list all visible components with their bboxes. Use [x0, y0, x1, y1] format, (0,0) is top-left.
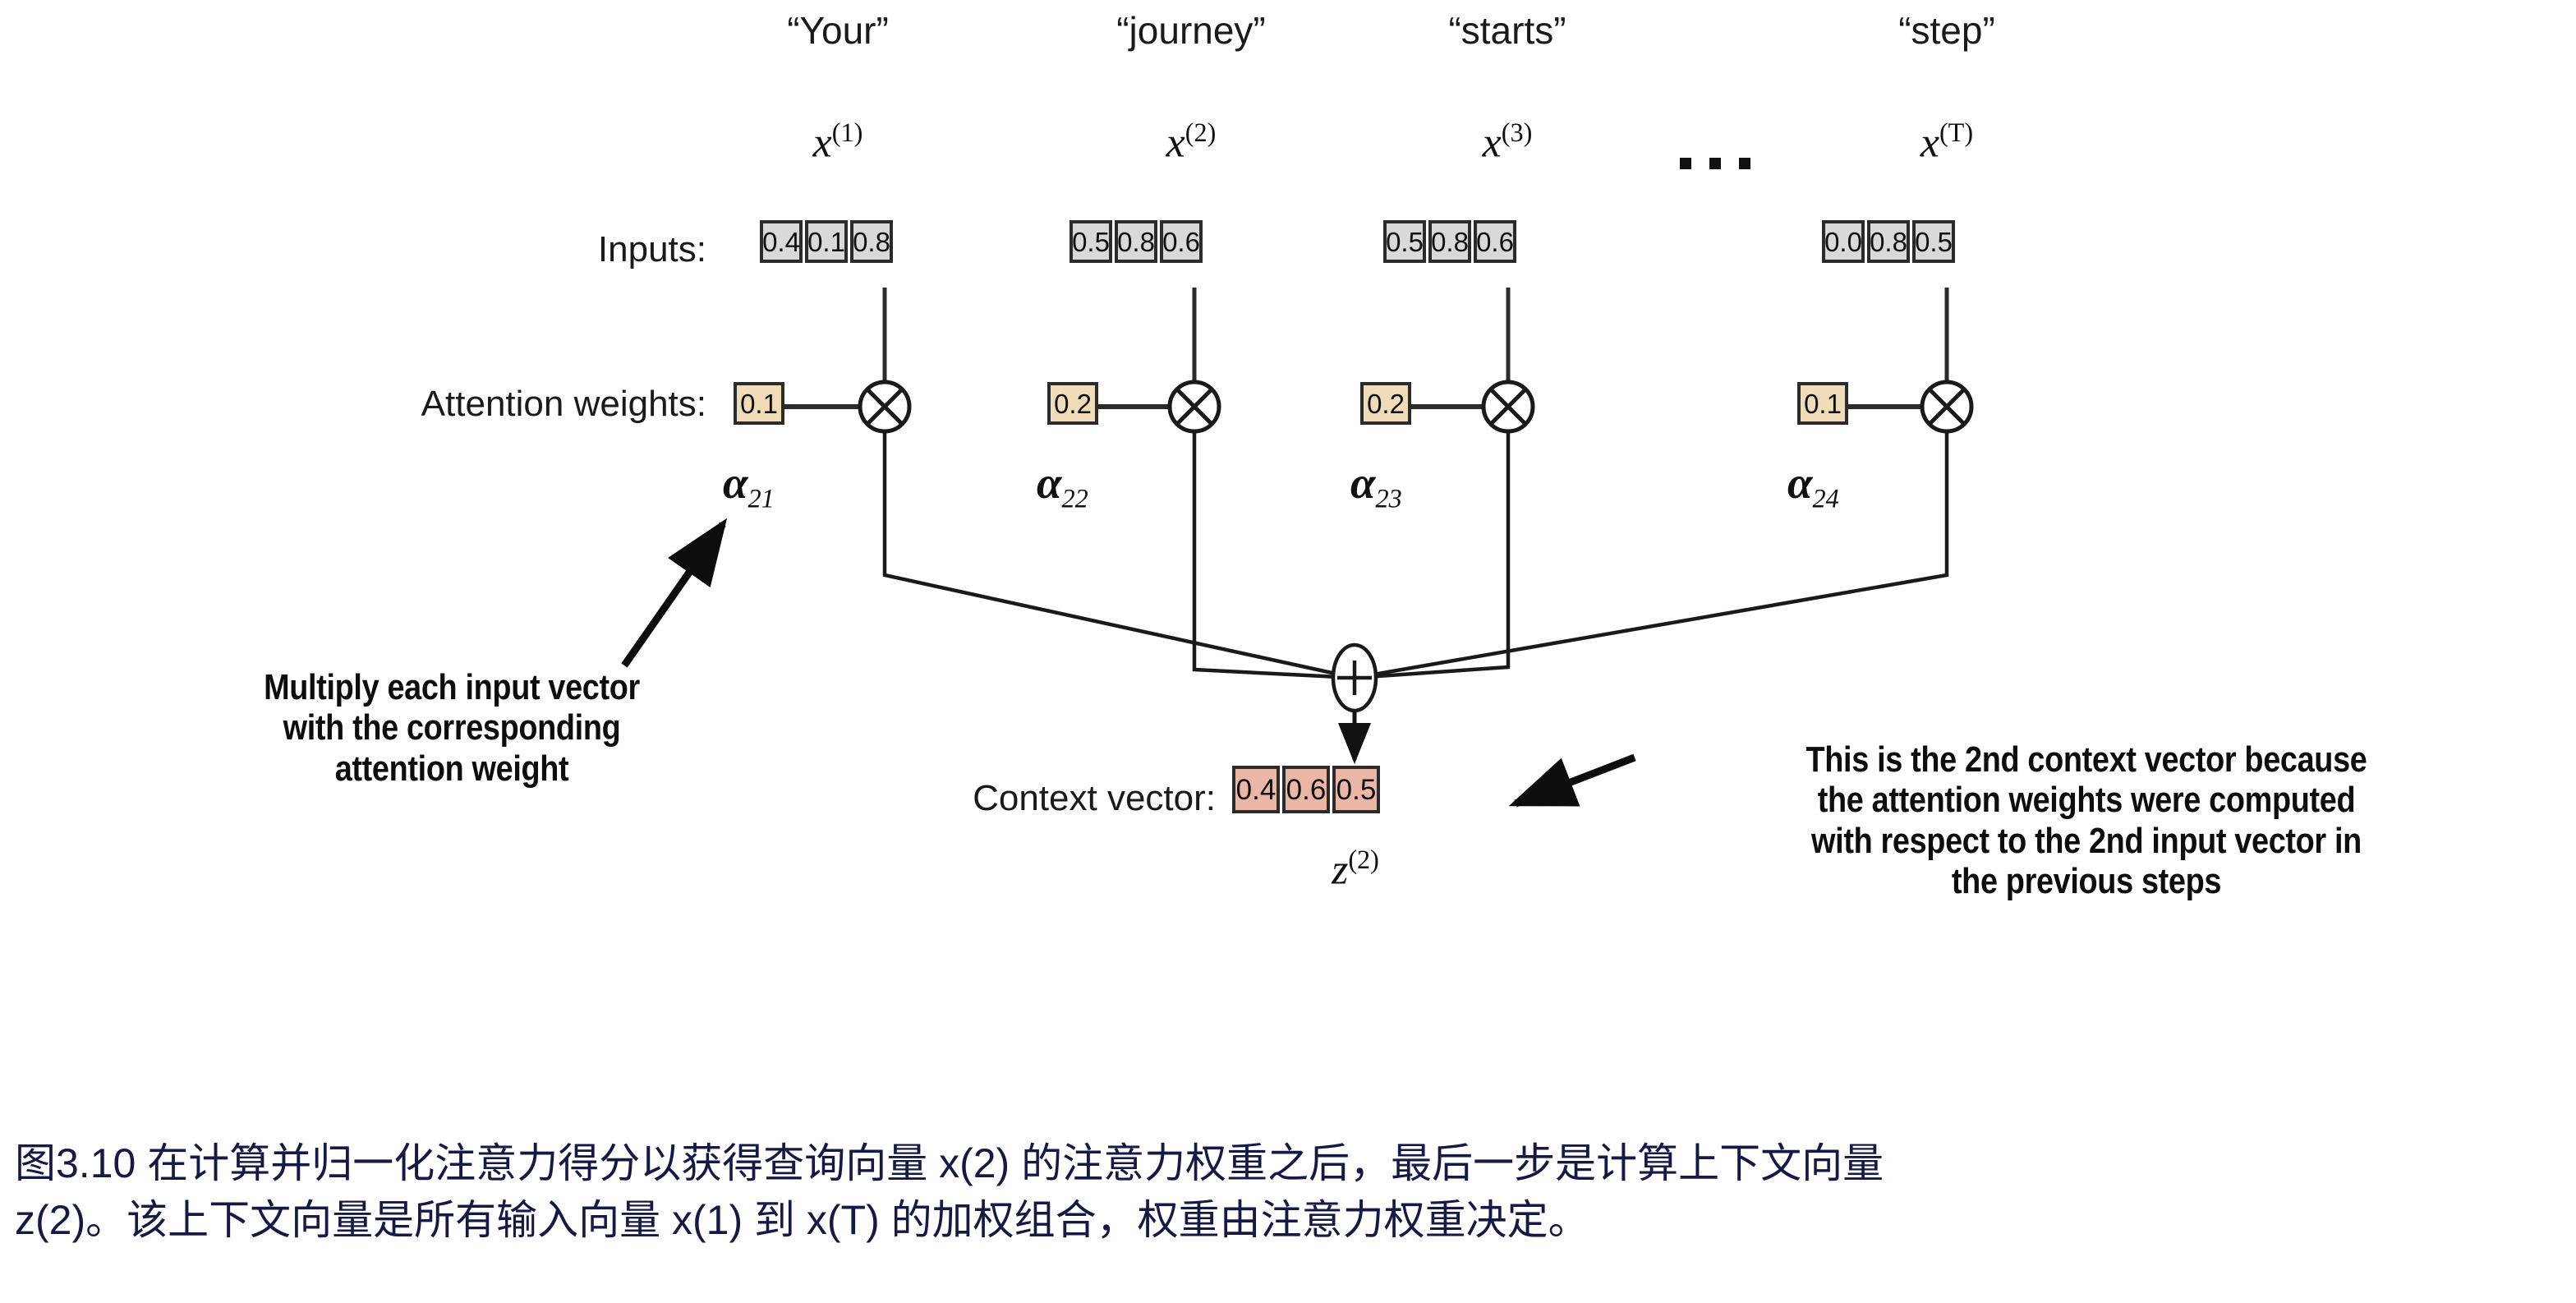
alpha-base-2: α: [1037, 458, 1062, 508]
alpha-sub-2: 22: [1062, 483, 1088, 513]
caption-line-2: z(2)。该上下文向量是所有输入向量 x(1) 到 x(T) 的加权组合，权重由…: [15, 1192, 2569, 1249]
annotation-right-line-2: the attention weights were computed: [1677, 780, 2496, 820]
input-cell: 0.5: [1912, 220, 1955, 263]
input-cell: 0.8: [1867, 220, 1910, 263]
input-cell: 0.8: [1428, 220, 1471, 263]
alpha-symbol-4: α24: [1787, 460, 1839, 512]
alpha-sub-3: 23: [1376, 483, 1402, 513]
figure-canvas: “Your” “journey” “starts” “step” x(1) x(…: [0, 0, 2576, 1303]
attention-weights-row-label: Attention weights:: [271, 386, 706, 422]
input-vector-2: 0.5 0.8 0.6: [1069, 220, 1203, 263]
input-cell: 0.5: [1383, 220, 1426, 263]
alpha-symbol-3: α23: [1350, 460, 1402, 512]
context-vector-symbol: z(2): [1298, 846, 1413, 891]
context-vector-row-label: Context vector:: [838, 780, 1216, 817]
input-vector-1: 0.4 0.1 0.8: [760, 220, 893, 263]
annotation-left-line-2: with the corresponding: [177, 707, 728, 748]
caption-line-1: 图3.10 在计算并归一化注意力得分以获得查询向量 x(2) 的注意力权重之后，…: [15, 1135, 2569, 1192]
token-symbol-4: x(T): [1881, 119, 2012, 164]
token-word-1: “Your”: [764, 12, 912, 49]
token-symbol-3: x(3): [1442, 119, 1573, 164]
token-word-3: “starts”: [1413, 12, 1602, 49]
context-symbol-sup: (2): [1348, 845, 1379, 874]
input-cell: 0.6: [1160, 220, 1203, 263]
input-cell: 0.8: [850, 220, 893, 263]
annotation-right-line-1: This is the 2nd context vector because: [1677, 739, 2496, 780]
annotation-right: This is the 2nd context vector because t…: [1677, 739, 2496, 901]
input-cell: 0.8: [1115, 220, 1157, 263]
annotation-right-line-3: with respect to the 2nd input vector in: [1677, 821, 2496, 861]
alpha-base-4: α: [1787, 458, 1813, 508]
token-symbol-base-2: x: [1166, 119, 1185, 166]
token-symbol-1: x(1): [772, 119, 904, 164]
token-symbol-sup-1: (1): [832, 117, 863, 147]
inputs-row-label: Inputs:: [329, 232, 706, 268]
input-vector-4: 0.0 0.8 0.5: [1822, 220, 1955, 263]
token-symbol-sup-2: (2): [1185, 117, 1217, 147]
annotation-left: Multiply each input vector with the corr…: [177, 667, 728, 789]
figure-caption: 图3.10 在计算并归一化注意力得分以获得查询向量 x(2) 的注意力权重之后，…: [15, 1135, 2569, 1249]
input-vector-3: 0.5 0.8 0.6: [1383, 220, 1516, 263]
attention-weight-cell-2: 0.2: [1047, 382, 1098, 425]
input-cell: 0.4: [760, 220, 803, 263]
ellipsis-icon: [1680, 158, 1750, 169]
attention-weight-cell-3: 0.2: [1360, 382, 1411, 425]
context-vector-cells: 0.4 0.6 0.5: [1232, 766, 1380, 813]
connector-lines: [0, 0, 2576, 1303]
context-cell: 0.5: [1332, 766, 1380, 813]
alpha-symbol-1: α21: [723, 460, 775, 512]
alpha-sub-4: 24: [1813, 483, 1839, 513]
context-symbol-base: z: [1332, 846, 1348, 893]
token-word-4: “step”: [1865, 12, 2029, 49]
token-symbol-base-3: x: [1483, 119, 1502, 166]
annotation-left-line-3: attention weight: [177, 748, 728, 789]
token-symbol-base-4: x: [1920, 119, 1939, 166]
token-symbol-2: x(2): [1125, 119, 1257, 164]
alpha-base-1: α: [723, 458, 748, 508]
alpha-sub-1: 21: [748, 483, 775, 513]
input-cell: 0.6: [1474, 220, 1516, 263]
token-symbol-base-1: x: [813, 119, 832, 166]
input-cell: 0.0: [1822, 220, 1865, 263]
token-symbol-sup-4: (T): [1939, 117, 1973, 147]
token-symbol-sup-3: (3): [1502, 117, 1533, 147]
annotation-right-line-4: the previous steps: [1677, 861, 2496, 901]
context-cell: 0.4: [1232, 766, 1280, 813]
alpha-base-3: α: [1350, 458, 1376, 508]
attention-weight-cell-4: 0.1: [1797, 382, 1848, 425]
token-word-2: “journey”: [1068, 12, 1314, 49]
attention-weight-cell-1: 0.1: [734, 382, 784, 425]
input-cell: 0.1: [805, 220, 848, 263]
alpha-symbol-2: α22: [1037, 460, 1088, 512]
annotation-left-line-1: Multiply each input vector: [177, 667, 728, 707]
context-cell: 0.6: [1282, 766, 1330, 813]
input-cell: 0.5: [1069, 220, 1112, 263]
